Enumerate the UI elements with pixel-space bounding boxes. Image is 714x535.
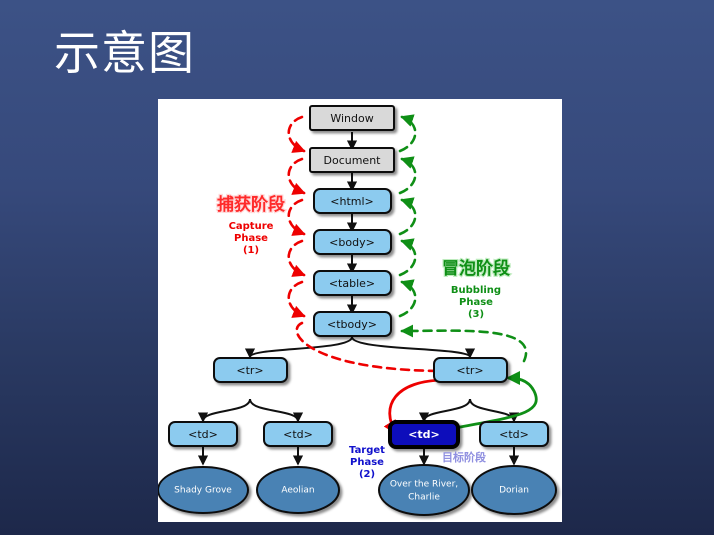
node-window[interactable]: Window [310,106,394,130]
node-td-4-label: <td> [499,428,529,441]
leaf-dorian-label: Dorian [499,486,529,496]
label-capture-phase: 捕获阶段 Capture Phase (1) [217,194,285,256]
leaf-aeolian[interactable]: Aeolian [257,467,339,513]
node-td-2-label: <td> [283,428,313,441]
leaf-over-the-river-label-2: Charlie [408,493,440,503]
leaf-over-the-river-label-1: Over the River, [390,480,458,490]
node-table[interactable]: <table> [314,271,391,295]
label-bubbling-phase: 冒泡阶段 Bubbling Phase (3) [442,258,510,320]
leaf-over-the-river[interactable]: Over the River, Charlie [379,465,469,515]
leaf-dorian[interactable]: Dorian [472,466,556,514]
node-td-4[interactable]: <td> [480,422,548,446]
label-target-phase-cn: 目标阶段 [442,450,486,464]
node-tr-right-label: <tr> [456,364,483,377]
node-tr-left[interactable]: <tr> [214,358,287,382]
leaf-shady-grove[interactable]: Shady Grove [158,467,248,513]
label-capture-phase-en-2: Phase [234,233,268,244]
node-tbody-label: <tbody> [327,318,377,331]
node-table-label: <table> [329,277,375,290]
node-tbody[interactable]: <tbody> [314,312,391,336]
node-body[interactable]: <body> [314,230,391,254]
node-td-1[interactable]: <td> [169,422,237,446]
node-document-label: Document [324,154,382,167]
label-bubbling-phase-en-3: (3) [468,309,484,320]
tbody-branch-connectors [250,337,470,357]
label-capture-phase-cn: 捕获阶段 [217,194,285,215]
node-window-label: Window [330,112,373,125]
node-td-target[interactable]: <td> [390,422,458,447]
dom-event-flow-diagram: Window Document <html> <body> <table> <t [158,99,562,522]
leaf-aeolian-label: Aeolian [281,486,314,496]
label-capture-phase-en-3: (1) [243,245,259,256]
node-tr-right[interactable]: <tr> [434,358,507,382]
label-capture-phase-en-1: Capture [229,221,274,232]
leaf-over-the-river-shape[interactable] [379,465,469,515]
label-bubbling-phase-cn: 冒泡阶段 [442,258,510,279]
node-html-label: <html> [330,195,374,208]
bubbling-arrows [400,117,526,361]
node-tr-left-label: <tr> [236,364,263,377]
label-bubbling-phase-en-1: Bubbling [451,285,501,296]
node-td-1-label: <td> [188,428,218,441]
label-target-phase-en-1: Target [349,445,385,456]
label-target-phase-en-2: Phase [350,457,384,468]
leaf-shady-grove-label: Shady Grove [174,486,232,496]
tr-branch-connectors [203,399,514,421]
page-title: 示意图 [54,22,195,84]
label-target-phase-en-3: (2) [359,469,375,480]
node-body-label: <body> [329,236,375,249]
node-td-target-label: <td> [408,428,440,441]
node-document[interactable]: Document [310,148,394,172]
label-bubbling-phase-en-2: Phase [459,297,493,308]
node-td-2[interactable]: <td> [264,422,332,446]
slide-root: 示意图 [0,0,714,535]
node-html[interactable]: <html> [314,189,391,213]
diagram-canvas: Window Document <html> <body> <table> <t [158,99,562,522]
